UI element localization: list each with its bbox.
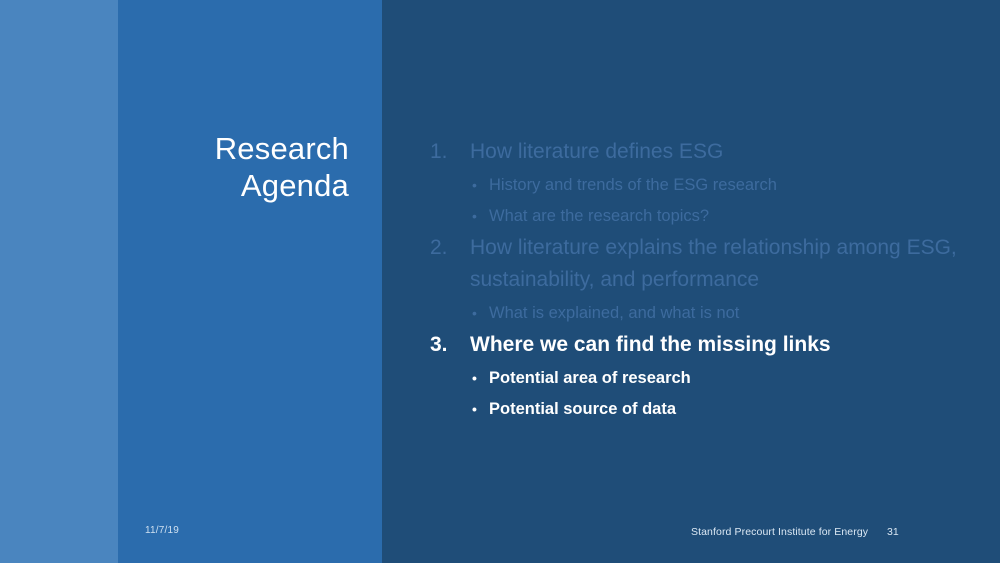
- background-band-left: [0, 0, 118, 563]
- agenda-item-3-sub-2-label: Potential source of data: [489, 400, 676, 418]
- agenda-item-3: 3. Where we can find the missing links: [430, 329, 980, 361]
- footer-page-number: 31: [887, 526, 899, 538]
- slide-title: Research Agenda: [140, 130, 349, 204]
- agenda-item-1-sub-2-label: What are the research topics?: [489, 207, 709, 225]
- agenda-item-2: 2. How literature explains the relations…: [430, 232, 980, 296]
- bullet-dot-icon: •: [472, 201, 477, 232]
- agenda-item-3-label: Where we can find the missing links: [470, 329, 980, 361]
- agenda-item-3-sub-2: • Potential source of data: [430, 394, 980, 425]
- agenda-item-3-number: 3.: [430, 329, 458, 361]
- agenda-item-3-sub-1: • Potential area of research: [430, 363, 980, 394]
- agenda-item-2-number: 2.: [430, 232, 458, 264]
- agenda-item-3-sub-1-label: Potential area of research: [489, 369, 691, 387]
- footer-date: 11/7/19: [145, 525, 179, 536]
- bullet-dot-icon: •: [472, 170, 477, 201]
- presentation-slide: Research Agenda 1. How literature define…: [0, 0, 1000, 563]
- bullet-dot-icon: •: [472, 394, 477, 425]
- agenda-item-1-label: How literature defines ESG: [470, 136, 980, 168]
- agenda-item-2-sub-1: • What is explained, and what is not: [430, 298, 980, 329]
- bullet-dot-icon: •: [472, 363, 477, 394]
- agenda-item-1: 1. How literature defines ESG: [430, 136, 980, 168]
- background-band-middle: [118, 0, 382, 563]
- agenda-item-2-sub-1-label: What is explained, and what is not: [489, 304, 739, 322]
- agenda-item-1-sub-1-label: History and trends of the ESG research: [489, 176, 777, 194]
- agenda-item-1-sub-2: • What are the research topics?: [430, 201, 980, 232]
- agenda-item-1-number: 1.: [430, 136, 458, 168]
- footer-organization: Stanford Precourt Institute for Energy: [691, 526, 868, 538]
- agenda-item-1-sub-1: • History and trends of the ESG research: [430, 170, 980, 201]
- agenda-item-2-label: How literature explains the relationship…: [470, 232, 980, 296]
- agenda-list: 1. How literature defines ESG • History …: [430, 136, 980, 425]
- bullet-dot-icon: •: [472, 298, 477, 329]
